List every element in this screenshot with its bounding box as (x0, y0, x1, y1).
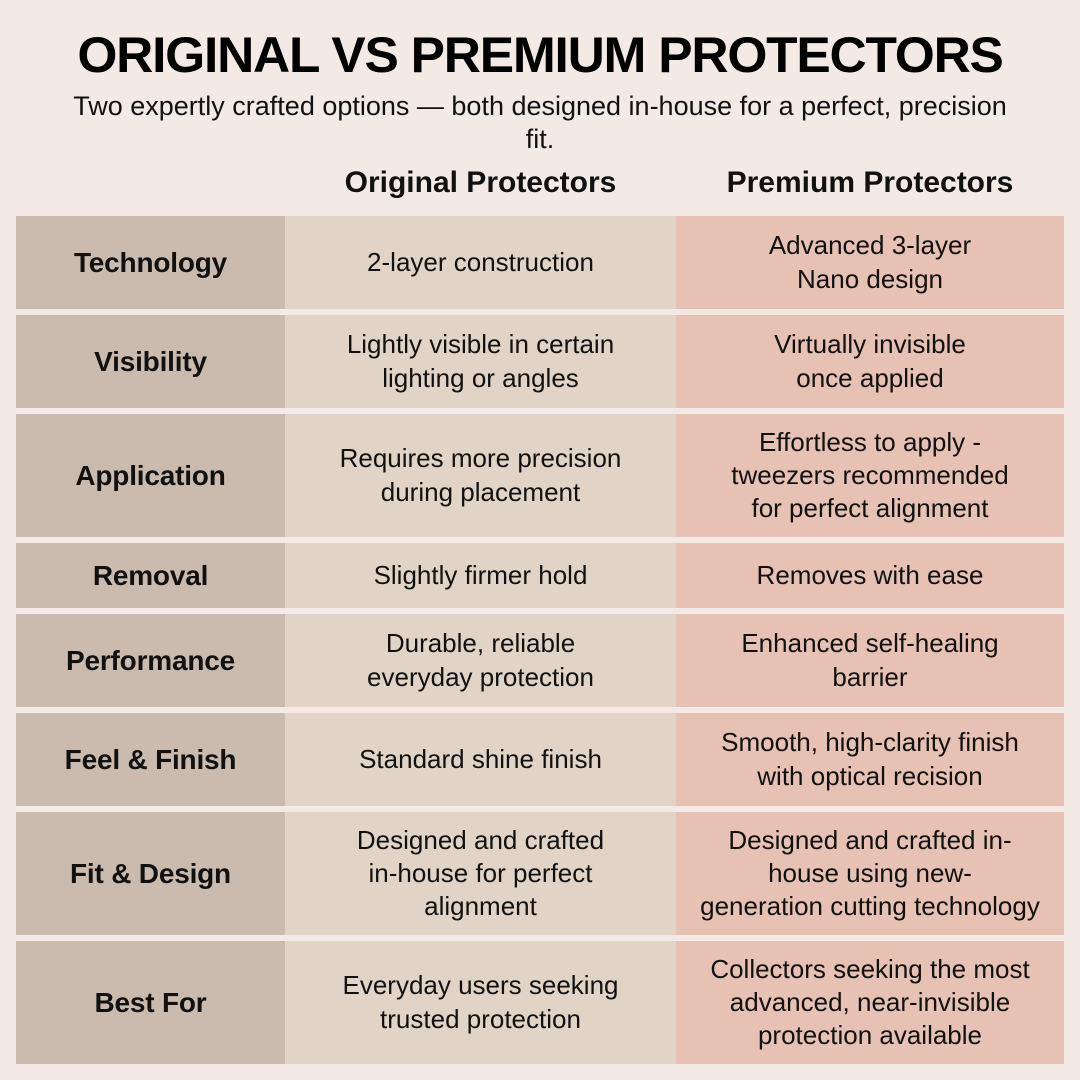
row-original-value: Slightly firmer hold (285, 543, 676, 608)
row-original-value: 2-layer construction (285, 216, 676, 309)
row-premium-value: Virtually invisible once applied (676, 315, 1064, 408)
row-premium-value: Removes with ease (676, 543, 1064, 608)
column-headers: Original Protectors Premium Protectors (16, 166, 1064, 199)
row-premium-value: Collectors seeking the most advanced, ne… (676, 941, 1064, 1064)
table-row: Best For Everyday users seeking trusted … (16, 941, 1064, 1064)
page-subtitle: Two expertly crafted options — both desi… (60, 90, 1020, 156)
row-feature-label: Application (16, 414, 285, 537)
row-premium-value: Designed and crafted in- house using new… (676, 812, 1064, 935)
row-feature-label: Feel & Finish (16, 713, 285, 806)
row-premium-value: Advanced 3-layer Nano design (676, 216, 1064, 309)
table-row: Visibility Lightly visible in certain li… (16, 315, 1064, 408)
row-feature-label: Performance (16, 614, 285, 707)
row-original-value: Designed and crafted in-house for perfec… (285, 812, 676, 935)
column-header-premium: Premium Protectors (676, 166, 1064, 199)
row-premium-value: Smooth, high-clarity finish with optical… (676, 713, 1064, 806)
comparison-table: Technology 2-layer construction Advanced… (16, 216, 1064, 1064)
row-feature-label: Best For (16, 941, 285, 1064)
page-title: ORIGINAL VS PREMIUM PROTECTORS (9, 30, 1072, 80)
table-row: Performance Durable, reliable everyday p… (16, 614, 1064, 707)
row-feature-label: Technology (16, 216, 285, 309)
row-premium-value: Effortless to apply - tweezers recommend… (676, 414, 1064, 537)
table-row: Technology 2-layer construction Advanced… (16, 216, 1064, 309)
column-header-spacer (16, 166, 285, 199)
table-row: Feel & Finish Standard shine finish Smoo… (16, 713, 1064, 806)
table-row: Removal Slightly firmer hold Removes wit… (16, 543, 1064, 608)
row-original-value: Lightly visible in certain lighting or a… (285, 315, 676, 408)
header: ORIGINAL VS PREMIUM PROTECTORS Two exper… (0, 0, 1080, 156)
table-row: Fit & Design Designed and crafted in-hou… (16, 812, 1064, 935)
row-feature-label: Removal (16, 543, 285, 608)
row-original-value: Durable, reliable everyday protection (285, 614, 676, 707)
row-premium-value: Enhanced self-healing barrier (676, 614, 1064, 707)
table-row: Application Requires more precision duri… (16, 414, 1064, 537)
column-header-original: Original Protectors (285, 166, 676, 199)
row-original-value: Standard shine finish (285, 713, 676, 806)
row-original-value: Everyday users seeking trusted protectio… (285, 941, 676, 1064)
row-feature-label: Visibility (16, 315, 285, 408)
comparison-infographic: ORIGINAL VS PREMIUM PROTECTORS Two exper… (0, 0, 1080, 1080)
row-original-value: Requires more precision during placement (285, 414, 676, 537)
row-feature-label: Fit & Design (16, 812, 285, 935)
